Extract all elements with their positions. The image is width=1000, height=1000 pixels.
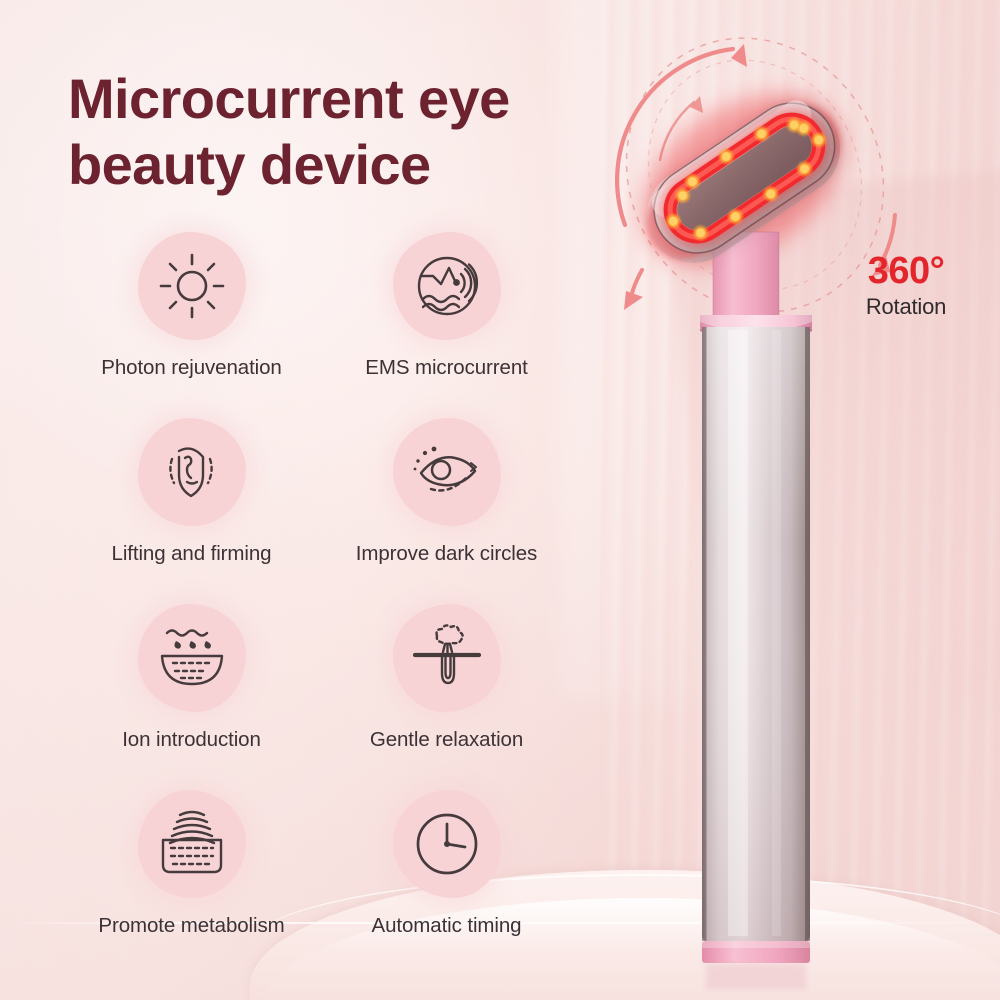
- feature-label: Promote metabolism: [98, 914, 284, 938]
- feature-item-photon-rejuvenation: Photon rejuvenation: [64, 232, 319, 418]
- feature-item-ems-microcurrent: EMS microcurrent: [319, 232, 574, 418]
- rotation-callout: 360° Rotation: [836, 252, 976, 320]
- feature-icon-badge: [138, 418, 246, 526]
- feature-label: Ion introduction: [122, 728, 261, 752]
- feature-item-lifting-and-firming: Lifting and firming: [64, 418, 319, 604]
- feature-icon-badge: [393, 790, 501, 898]
- feature-icon-badge: [393, 232, 501, 340]
- sun-icon: [158, 252, 226, 320]
- feature-icon-badge: [138, 604, 246, 712]
- feature-item-promote-metabolism: Promote metabolism: [64, 790, 319, 976]
- feature-label: Improve dark circles: [356, 542, 537, 566]
- pore-steam-icon: [409, 622, 485, 694]
- feature-item-automatic-timing: Automatic timing: [319, 790, 574, 976]
- feature-icon-badge: [138, 790, 246, 898]
- eye-icon: [409, 441, 485, 503]
- product-marketing-image: Microcurrent eye beauty device: [0, 0, 1000, 1000]
- face-lift-icon: [157, 437, 227, 507]
- feature-label: EMS microcurrent: [365, 356, 527, 380]
- feature-label: Lifting and firming: [112, 542, 272, 566]
- ems-wave-icon: [411, 250, 483, 322]
- feature-icon-badge: [393, 418, 501, 526]
- feature-item-improve-dark-circles: Improve dark circles: [319, 418, 574, 604]
- rotation-text-label: Rotation: [836, 294, 976, 320]
- feature-item-ion-introduction: Ion introduction: [64, 604, 319, 790]
- feature-item-gentle-relaxation: Gentle relaxation: [319, 604, 574, 790]
- feature-label: Photon rejuvenation: [101, 356, 281, 380]
- feature-label: Gentle relaxation: [370, 728, 523, 752]
- feature-icon-badge: [138, 232, 246, 340]
- skin-waves-icon: [155, 809, 229, 879]
- feature-icon-badge: [393, 604, 501, 712]
- feature-list: Photon rejuvenation: [64, 232, 574, 976]
- feature-label: Automatic timing: [372, 914, 522, 938]
- page-title: Microcurrent eye beauty device: [68, 66, 628, 198]
- clock-icon: [412, 809, 482, 879]
- rotation-degrees-label: 360°: [836, 252, 976, 290]
- ion-bowl-icon: [155, 625, 229, 691]
